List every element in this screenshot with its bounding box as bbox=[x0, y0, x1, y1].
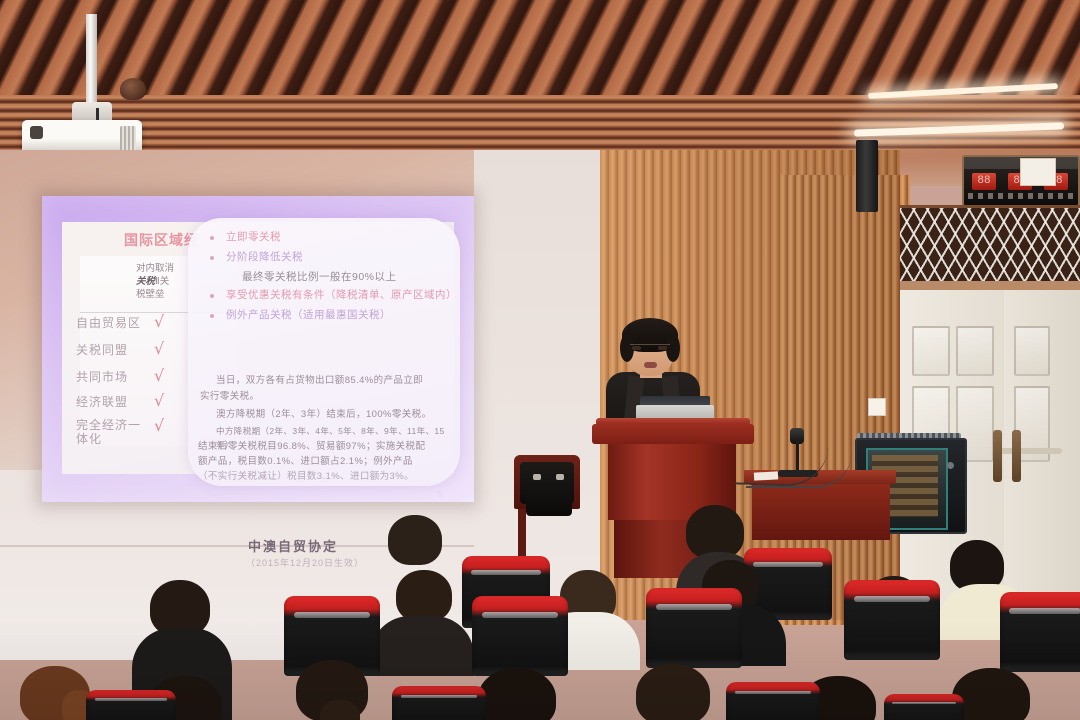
checkmark-icon: √ bbox=[154, 339, 164, 358]
projector-lens bbox=[30, 126, 43, 139]
table-row-label: 共同市场 bbox=[76, 368, 128, 385]
checkmark-icon: √ bbox=[154, 416, 164, 435]
audience-head bbox=[686, 505, 744, 559]
callout-paragraph: 澳方降税期（2年、3年）结束后，100%零关税。 bbox=[216, 408, 452, 422]
bullet-dot-icon bbox=[210, 314, 214, 318]
auditorium-seat[interactable] bbox=[726, 682, 820, 720]
clock-label-strip bbox=[968, 193, 1074, 199]
ceiling-slats-horizontal bbox=[0, 95, 1080, 150]
rack-lock-icon[interactable] bbox=[947, 462, 954, 469]
wall-speaker-icon bbox=[856, 140, 878, 212]
door-frame-header bbox=[900, 281, 1080, 290]
table-header-line-2: Ⅱ关 bbox=[155, 276, 169, 287]
ceiling-dome-icon bbox=[120, 78, 146, 100]
light-switch-icon[interactable] bbox=[868, 398, 886, 416]
table-row-label: 完全经济一体化 bbox=[76, 418, 146, 446]
projector-mount-pole bbox=[86, 14, 97, 108]
auditorium-seat[interactable] bbox=[392, 686, 486, 720]
transom-lattice-window bbox=[900, 205, 1080, 288]
auditorium-seat[interactable] bbox=[1000, 592, 1080, 672]
door-panel bbox=[956, 326, 994, 376]
callout-paragraph: （不实行关税减让）税目数3.1%、进口额为3%。 bbox=[198, 470, 452, 484]
checkmark-icon: √ bbox=[154, 312, 164, 331]
slide-bullet: 例外产品关税（适用最惠国关税） bbox=[226, 308, 391, 322]
table-header-keyword: 关税 bbox=[136, 276, 155, 287]
ponytail-icon bbox=[320, 700, 360, 720]
table-header-line-1: 对内取消 bbox=[136, 263, 174, 274]
slide-number: 5 bbox=[438, 490, 442, 499]
callout-paragraph: 实行零关税。 bbox=[200, 390, 440, 404]
checkmark-icon: √ bbox=[154, 366, 164, 385]
handbag-clasp bbox=[556, 474, 564, 480]
door-panel bbox=[1014, 326, 1050, 376]
bullet-dot-icon bbox=[210, 294, 214, 298]
table-row-label: 关税同盟 bbox=[76, 341, 128, 358]
callout-heading: 中澳自贸协定 bbox=[248, 536, 338, 555]
auditorium-seat[interactable] bbox=[472, 596, 568, 676]
callout-date: （2015年12月20日生效） bbox=[246, 556, 364, 569]
auditorium-seat[interactable] bbox=[844, 580, 940, 660]
slide-bullet: 立即零关税 bbox=[226, 230, 281, 244]
side-table-body bbox=[752, 484, 890, 540]
lecture-hall-photo: 88 88 88 国际区域经 对内取消 关税Ⅱ关 税壁垒 自由贸易区 √ bbox=[0, 0, 1080, 720]
stage-back-wall bbox=[474, 150, 604, 620]
wall-notice-card bbox=[1020, 158, 1056, 186]
auditorium-seat[interactable] bbox=[86, 690, 176, 720]
audience-head bbox=[396, 570, 452, 622]
door-push-bar[interactable] bbox=[1000, 448, 1062, 454]
slide-bullet: 享受优惠关税有条件（降税清单、原产区域内） bbox=[226, 288, 457, 302]
podium-desk bbox=[592, 424, 754, 444]
audience-shoulders bbox=[370, 616, 474, 676]
table-header-line-3: 税壁垒 bbox=[136, 289, 165, 300]
table-row-label: 经济联盟 bbox=[76, 393, 128, 410]
audience-head bbox=[636, 664, 710, 720]
checkmark-icon: √ bbox=[154, 391, 164, 410]
door-handle-icon[interactable] bbox=[993, 430, 1002, 482]
audience-head bbox=[388, 515, 442, 565]
bullet-dot-icon bbox=[210, 236, 214, 240]
table-row-label: 自由贸易区 bbox=[76, 314, 141, 331]
clock-digit-hours: 88 bbox=[972, 173, 996, 190]
callout-paragraph: 结束后零关税税目96.8%、贸易额97%；实施关税配 bbox=[198, 440, 452, 454]
bullet-dot-icon bbox=[210, 256, 214, 260]
slide-bullet: 分阶段降低关税 bbox=[226, 250, 303, 264]
callout-paragraph: 额产品，税目数0.1%、进口额占2.1%；例外产品 bbox=[198, 455, 452, 469]
door-panel bbox=[912, 326, 950, 376]
slide-callout-panel: 立即零关税 分阶段降低关税 最终零关税比例一般在90%以上 享受优惠关税有条件（… bbox=[188, 218, 460, 486]
slide-subtext: 最终零关税比例一般在90%以上 bbox=[242, 270, 397, 284]
handbag-clasp bbox=[533, 474, 541, 480]
door-handle-icon[interactable] bbox=[1012, 430, 1021, 482]
handbag-icon bbox=[526, 476, 572, 516]
glasses-icon bbox=[630, 344, 670, 354]
auditorium-seat[interactable] bbox=[884, 694, 964, 720]
presenter-mouth bbox=[644, 362, 657, 368]
audience-head bbox=[478, 668, 556, 720]
auditorium-seat[interactable] bbox=[646, 588, 742, 668]
callout-paragraph: 当日，双方各有占货物出口额85.4%的产品立即 bbox=[216, 374, 440, 388]
